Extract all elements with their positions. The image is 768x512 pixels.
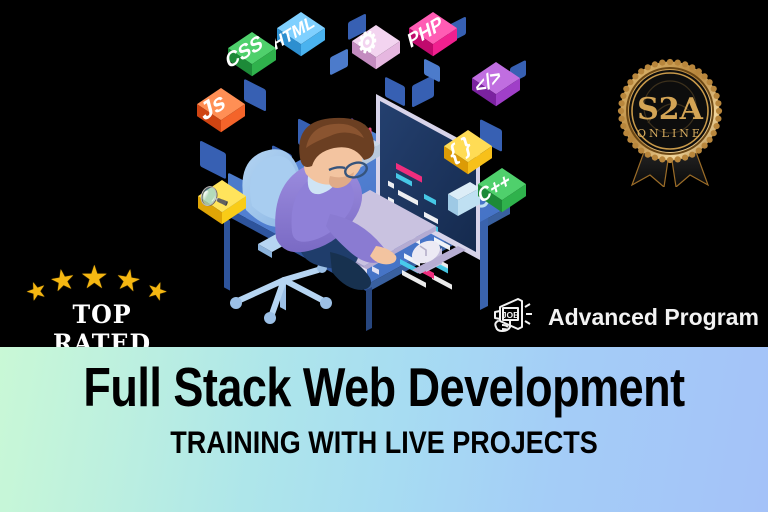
star-icon-2: ★ bbox=[48, 265, 79, 298]
seal-svg: S2A ONLINE bbox=[608, 55, 732, 187]
s2a-online-seal-badge: S2A ONLINE bbox=[608, 55, 732, 187]
php-card: PHP bbox=[407, 10, 459, 62]
megaphone-job-icon: JOB bbox=[492, 295, 538, 340]
css-card: CSS bbox=[226, 30, 278, 82]
html-card: HTML bbox=[275, 10, 327, 62]
advanced-program-label: Advanced Program bbox=[548, 304, 759, 331]
bottom-banner: Full Stack Web Development TRAINING WITH… bbox=[0, 347, 768, 512]
isometric-developer-illustration: CSSHTML⚙PHP</>Js{ }🔍C++ bbox=[180, 8, 540, 343]
megaphone-job-text: JOB bbox=[502, 310, 519, 320]
seal-monogram: S2A bbox=[637, 92, 704, 127]
poster-canvas: CSSHTML⚙PHP</>Js{ }🔍C++ bbox=[0, 0, 768, 512]
gears-card: ⚙ bbox=[350, 23, 402, 75]
advanced-program-tag: JOB Advanced Program bbox=[492, 296, 759, 338]
banner-subtitle: TRAINING WITH LIVE PROJECTS bbox=[0, 425, 768, 460]
star-icon-3: ★ bbox=[80, 261, 109, 293]
cplusplus-card: C++ bbox=[476, 166, 528, 218]
star-rating: ★ ★ ★ ★ ★ bbox=[22, 258, 182, 304]
seal-subtext: ONLINE bbox=[637, 127, 703, 140]
search-card: 🔍 bbox=[196, 178, 248, 230]
top-rated-badge: ★ ★ ★ ★ ★ TOP RATED bbox=[22, 258, 182, 336]
code-card: </> bbox=[470, 60, 522, 112]
javascript-card: Js bbox=[195, 86, 247, 138]
banner-title: Full Stack Web Development bbox=[0, 356, 768, 419]
star-icon-4: ★ bbox=[113, 265, 144, 298]
